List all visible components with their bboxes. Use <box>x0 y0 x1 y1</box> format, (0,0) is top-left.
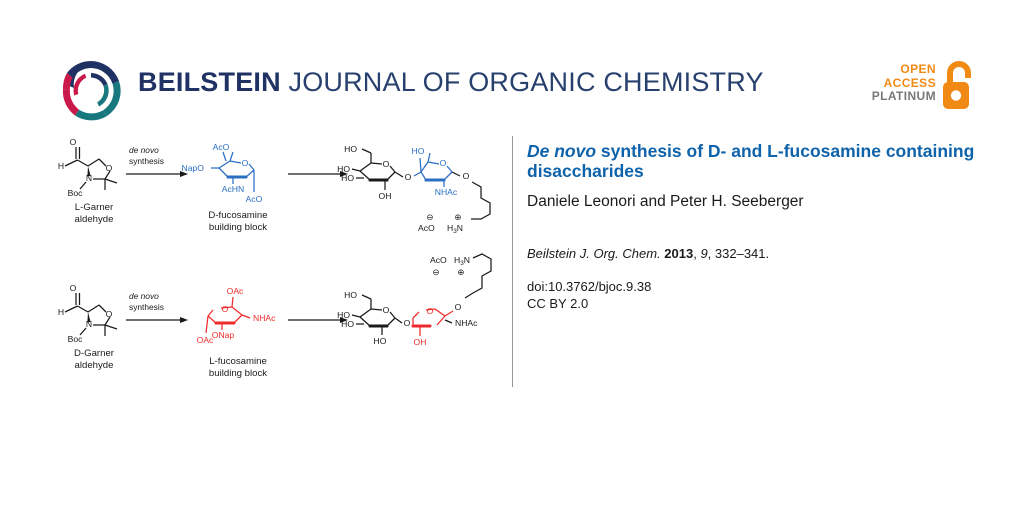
structure-d-garner-aldehyde: O H O N Boc D-Garner aldehyde <box>58 283 117 371</box>
counterion-plus-2: ⊕ <box>457 267 464 277</box>
open-access-line-open: OPEN <box>872 63 936 77</box>
atom-label-o-aldehyde-2: O <box>70 283 77 293</box>
beilstein-spiral-logo <box>55 55 127 127</box>
rxn-label-italic-1: de novo <box>129 145 159 155</box>
structure-l-fucosamine-building-block: O OAc NHAc ONap OAc L-fucosamine buildin… <box>197 286 277 379</box>
atom-label-o-glycosidic-1: O <box>405 172 412 182</box>
article-title-italic: De novo <box>527 141 596 161</box>
atom-label-o-ring-red: O <box>222 304 229 314</box>
atom-label-oac-top-red: OAc <box>227 286 244 296</box>
atom-label-aco-anomeric-blue: AcO <box>246 194 263 204</box>
atom-label-oh-c2-gal-1: OH <box>379 191 392 201</box>
article-title: De novo synthesis of D- and L-fucosamine… <box>527 142 997 181</box>
caption-d-fucosamine-line2: building block <box>209 222 267 233</box>
atom-label-o-gal-ring-1: O <box>383 159 390 169</box>
atom-label-o-linker-1: O <box>463 171 470 181</box>
citation-pages: 332–341. <box>715 246 769 261</box>
atom-label-achn-blue: AcHN <box>222 184 244 194</box>
atom-label-nhac-red: NHAc <box>253 313 276 323</box>
counterion-minus-2: ⊖ <box>432 267 439 277</box>
article-doi[interactable]: doi:10.3762/bjoc.9.38 <box>527 279 997 296</box>
atom-label-h-aldehyde-2: H <box>58 307 64 317</box>
atom-label-ho-fuc-1: HO <box>412 146 425 156</box>
open-access-text: OPEN ACCESS PLATINUM <box>872 63 936 104</box>
atom-label-ho-c3-gal-1: HO <box>341 173 354 183</box>
counterion-h3n-2: H3N <box>454 255 470 267</box>
wordmark-bold: BEILSTEIN <box>138 67 281 97</box>
atom-label-ho-c3-gal-2: HO <box>341 319 354 329</box>
article-authors: Daniele Leonori and Peter H. Seeberger <box>527 192 997 211</box>
structure-l-fucosamine-disaccharide: AcO H3N ⊖ ⊕ O HO H <box>337 254 491 347</box>
caption-l-fucosamine-line2: building block <box>209 368 267 379</box>
rxn-label-italic-2: de novo <box>129 291 159 301</box>
atom-label-o-ring-2: O <box>106 309 113 319</box>
structure-l-garner-aldehyde: O H O N <box>58 137 117 225</box>
citation-volume: 9 <box>700 246 707 261</box>
doi-license-block: doi:10.3762/bjoc.9.38 CC BY 2.0 <box>527 279 997 312</box>
counterion-minus-1: ⊖ <box>426 212 433 222</box>
atom-label-ho-c2-gal-2: HO <box>374 336 387 346</box>
atom-label-o-ring-blue: O <box>242 158 249 168</box>
atom-label-o-linker-2: O <box>455 302 462 312</box>
structure-d-fucosamine-building-block: O AcO NapO AcHN AcO D-fucosamine <box>182 142 268 233</box>
counterion-aco-2: AcO <box>430 255 447 265</box>
article-citation: Beilstein J. Org. Chem. 2013, 9, 332–341… <box>527 245 997 262</box>
citation-journal: Beilstein J. Org. Chem. <box>527 246 661 261</box>
journal-header: BEILSTEIN JOURNAL OF ORGANIC CHEMISTRY O… <box>0 0 1024 140</box>
counterion-aco-1: AcO <box>418 223 435 233</box>
atom-label-o-gal-ring-2: O <box>383 305 390 315</box>
wordmark-light: JOURNAL OF ORGANIC CHEMISTRY <box>281 67 764 97</box>
journal-wordmark: BEILSTEIN JOURNAL OF ORGANIC CHEMISTRY <box>138 69 764 96</box>
caption-d-garner-line1: D-Garner <box>74 348 115 359</box>
atom-label-o-ring-1: O <box>106 163 113 173</box>
open-access-badge: OPEN ACCESS PLATINUM <box>868 58 978 120</box>
caption-d-garner-line2: aldehyde <box>75 360 114 371</box>
atom-label-boc-1: Boc <box>68 188 84 198</box>
atom-label-onap-red: ONap <box>212 330 235 340</box>
caption-l-garner-line1: L-Garner <box>75 202 114 213</box>
row-d-fucosamine: O H O N <box>58 137 490 235</box>
atom-label-nhac-fuc-1: NHAc <box>435 187 458 197</box>
atom-label-oac-anomeric-red: OAc <box>197 335 214 345</box>
graphical-abstract-scheme: O H O N <box>30 130 505 395</box>
column-divider <box>512 136 513 387</box>
row-l-fucosamine: O H O N Boc D-Garner aldehyde <box>58 254 491 379</box>
atom-label-nhac-fuc-2: NHAc <box>455 318 478 328</box>
citation-year: 2013 <box>664 246 693 261</box>
atom-label-aco-top-blue: AcO <box>213 142 230 152</box>
open-access-line-platinum: PLATINUM <box>872 90 936 104</box>
atom-label-o-fuc-ring-1: O <box>440 158 447 168</box>
counterion-plus-1: ⊕ <box>454 212 461 222</box>
atom-label-napo-blue: NapO <box>182 163 205 173</box>
atom-label-h-aldehyde: H <box>58 161 64 171</box>
rxn-label-rest-1: synthesis <box>129 156 164 166</box>
article-meta: De novo synthesis of D- and L-fucosamine… <box>527 142 997 312</box>
arrow-de-novo-2: de novo synthesis <box>126 291 188 323</box>
caption-l-fucosamine-line1: L-fucosamine <box>209 356 267 367</box>
rxn-label-rest-2: synthesis <box>129 302 164 312</box>
atom-label-o-fuc-ring-2: O <box>427 306 434 316</box>
open-padlock-icon <box>940 60 978 112</box>
article-title-page: BEILSTEIN JOURNAL OF ORGANIC CHEMISTRY O… <box>0 0 1024 512</box>
atom-label-ho-c6-gal-1: HO <box>344 144 357 154</box>
atom-label-oh-fuc-2: OH <box>414 337 427 347</box>
caption-d-fucosamine-line1: D-fucosamine <box>208 210 267 221</box>
atom-label-o-glycosidic-2: O <box>404 318 411 328</box>
structure-d-fucosamine-disaccharide: O HO HO HO OH O <box>337 144 490 235</box>
caption-l-garner-line2: aldehyde <box>75 214 114 225</box>
citation-sep-2: , <box>708 246 715 261</box>
atom-label-o-aldehyde: O <box>70 137 77 147</box>
atom-label-boc-2: Boc <box>68 334 84 344</box>
article-license: CC BY 2.0 <box>527 296 997 313</box>
counterion-h3n-1: H3N <box>447 223 463 235</box>
atom-label-ho-c6-gal-2: HO <box>344 290 357 300</box>
open-access-line-access: ACCESS <box>872 77 936 91</box>
arrow-de-novo-1: de novo synthesis <box>126 145 188 177</box>
